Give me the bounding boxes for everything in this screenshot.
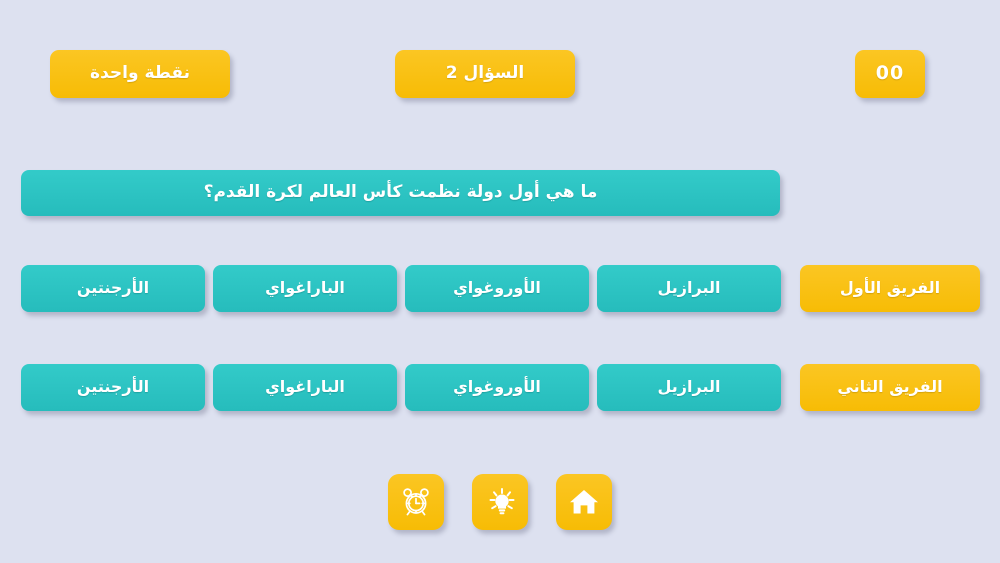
bottom-toolbar xyxy=(0,474,1000,530)
answer-option-team-one-3[interactable]: الباراغواي xyxy=(213,265,397,312)
timer-badge: 00 xyxy=(855,50,925,98)
question-banner: ما هي أول دولة نظمت كأس العالم لكرة القد… xyxy=(21,170,780,216)
answer-row-team-one: الأرجنتين الباراغواي الأوروغواي البرازيل… xyxy=(0,265,1000,313)
home-icon xyxy=(567,485,601,519)
points-badge: نقطة واحدة xyxy=(50,50,230,98)
answer-option-team-two-1[interactable]: البرازيل xyxy=(597,364,781,411)
answer-option-team-one-4[interactable]: الأرجنتين xyxy=(21,265,205,312)
lightbulb-icon xyxy=(483,485,517,519)
answer-option-team-one-1[interactable]: البرازيل xyxy=(597,265,781,312)
quiz-screen: نقطة واحدة السؤال 2 00 ما هي أول دولة نظ… xyxy=(0,0,1000,563)
team-one-button[interactable]: الفريق الأول xyxy=(800,265,980,312)
answer-option-team-one-2[interactable]: الأوروغواي xyxy=(405,265,589,312)
answer-row-team-two: الأرجنتين الباراغواي الأوروغواي البرازيل… xyxy=(0,364,1000,412)
answer-option-team-two-3[interactable]: الباراغواي xyxy=(213,364,397,411)
answer-option-team-two-2[interactable]: الأوروغواي xyxy=(405,364,589,411)
question-number-badge: السؤال 2 xyxy=(395,50,575,98)
hint-button[interactable] xyxy=(472,474,528,530)
team-two-button[interactable]: الفريق الثاني xyxy=(800,364,980,411)
home-button[interactable] xyxy=(556,474,612,530)
alarm-clock-icon xyxy=(399,485,433,519)
timer-button[interactable] xyxy=(388,474,444,530)
answer-option-team-two-4[interactable]: الأرجنتين xyxy=(21,364,205,411)
